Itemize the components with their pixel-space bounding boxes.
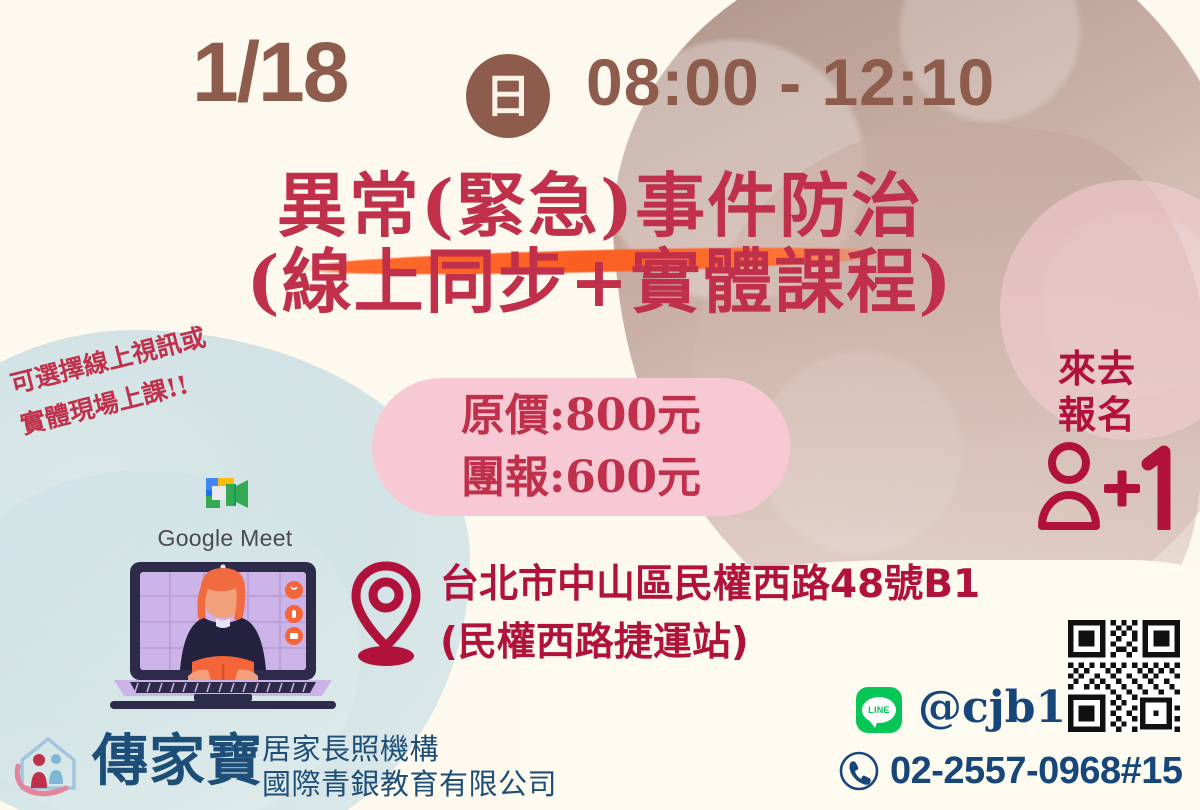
- line-app-icon[interactable]: LINE: [856, 687, 902, 733]
- poster-canvas: 1/18 日 08:00 - 12:10 異常(緊急)事件防治 (線上同步+實體…: [0, 0, 1200, 810]
- company-brand: 傳家寶: [92, 730, 263, 792]
- venue-address: 台北市中山區民權西路48號B1 (民權西路捷運站): [440, 556, 1080, 672]
- signup-label-line-1: 來去: [1058, 346, 1178, 392]
- qr-code-icon[interactable]: [1063, 620, 1185, 732]
- line-bubble-icon: LINE: [862, 697, 896, 723]
- event-time-range: 08:00 - 12:10: [586, 46, 995, 118]
- line-badge-label: LINE: [868, 705, 890, 715]
- laptop-video-class-icon: [108, 556, 338, 711]
- price-group: 團報:600元: [372, 447, 790, 509]
- price-original: 原價:800元: [372, 385, 790, 447]
- signup-label-line-2: 報名: [1058, 392, 1178, 438]
- company-subtitle: 居家長照機構 國際青銀教育有限公司: [262, 732, 557, 802]
- header: 1/18 日 08:00 - 12:10: [0, 18, 1200, 128]
- company-subtitle-line-1: 居家長照機構: [262, 732, 557, 767]
- google-meet-camera-icon: [198, 472, 252, 514]
- add-person-plus-one-icon: [1036, 440, 1186, 530]
- price-block: 原價:800元 團報:600元: [372, 385, 790, 509]
- house-caring-hands-logo-icon: [10, 726, 86, 802]
- google-meet-label: Google Meet: [150, 525, 300, 552]
- event-date: 1/18: [192, 30, 348, 114]
- company-subtitle-line-2: 國際青銀教育有限公司: [262, 767, 557, 802]
- course-title-line-2: (線上同步+實體課程): [0, 244, 1200, 320]
- weekday-badge: 日: [466, 54, 550, 138]
- venue-address-line-2: (民權西路捷運站): [440, 614, 1080, 672]
- course-title: 異常(緊急)事件防治 (線上同步+實體課程): [0, 168, 1200, 320]
- signup-call-to-action[interactable]: 來去 報名: [1058, 346, 1178, 438]
- venue-address-line-1: 台北市中山區民權西路48號B1: [440, 556, 1080, 614]
- location-pin-icon: [350, 560, 422, 670]
- google-meet-block: Google Meet: [150, 472, 300, 552]
- phone-circle-icon: [838, 750, 880, 792]
- phone-number[interactable]: 02-2557-0968#15: [890, 748, 1183, 794]
- line-id[interactable]: @cjb1: [918, 682, 1066, 734]
- course-title-line-1: 異常(緊急)事件防治: [0, 168, 1200, 244]
